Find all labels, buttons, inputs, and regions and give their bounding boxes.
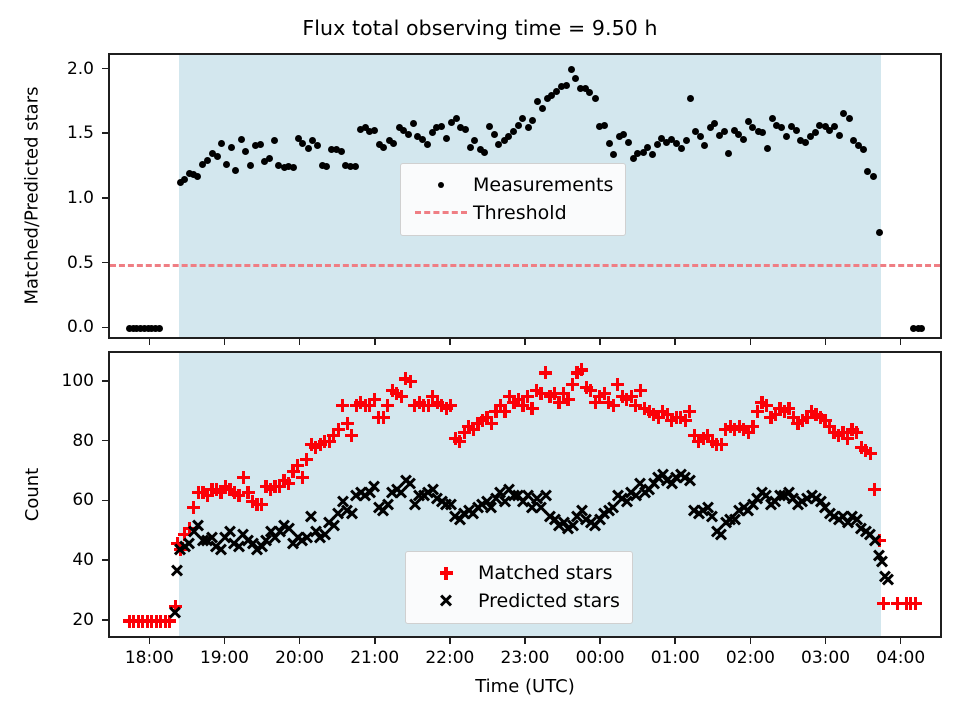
legend-item-matched-stars: Matched stars — [418, 559, 620, 587]
y-tick-mark — [102, 440, 108, 442]
data-point — [592, 95, 599, 102]
x-tick-mark — [900, 638, 902, 644]
data-point — [338, 148, 345, 155]
y-tick-mark — [102, 262, 108, 264]
data-point — [654, 141, 661, 148]
data-point — [606, 140, 613, 147]
x-tick-label: 04:00 — [876, 648, 925, 668]
data-point — [793, 127, 800, 134]
legend-item-threshold: Threshold — [413, 199, 613, 227]
data-point — [453, 115, 460, 122]
data-point — [238, 136, 245, 143]
data-point — [876, 229, 883, 236]
legend-item-predicted-stars: Predicted stars — [418, 587, 620, 615]
y-tick-mark — [102, 197, 108, 199]
data-point — [462, 126, 469, 133]
x-tick-label: 23:00 — [501, 648, 550, 668]
chart-title: Flux total observing time = 9.50 h — [0, 16, 960, 40]
data-point — [568, 66, 575, 73]
x-tick-mark — [674, 339, 676, 345]
x-axis-label: Time (UTC) — [108, 676, 942, 697]
x-tick-label: 22:00 — [425, 648, 474, 668]
data-point — [157, 613, 173, 629]
data-point — [126, 613, 142, 629]
data-point — [764, 145, 771, 152]
y-tick-mark — [102, 380, 108, 382]
data-point — [162, 613, 178, 629]
data-point — [130, 613, 146, 629]
x-tick-mark — [224, 638, 226, 644]
data-point — [687, 95, 694, 102]
data-point — [903, 595, 919, 611]
x-tick-mark — [149, 638, 151, 644]
x-tick-mark — [299, 339, 301, 345]
data-point — [290, 164, 297, 171]
data-point — [443, 135, 450, 142]
data-point — [880, 571, 896, 587]
y-tick-label: 0.0 — [0, 317, 94, 337]
x-tick-mark — [750, 638, 752, 644]
data-point — [228, 144, 235, 151]
x-tick-mark — [374, 638, 376, 644]
x-tick-mark — [524, 339, 526, 345]
y-tick-label: 0.5 — [0, 253, 94, 273]
data-point — [257, 141, 264, 148]
figure-root: Flux total observing time = 9.50 h Match… — [0, 0, 960, 720]
data-point — [242, 148, 249, 155]
data-point — [405, 131, 412, 138]
legend-label-threshold: Threshold — [469, 202, 567, 224]
data-point — [467, 144, 474, 151]
y-tick-label: 80 — [0, 431, 94, 451]
data-point — [625, 139, 632, 146]
y-tick-label: 100 — [0, 371, 94, 391]
top-panel-legend: Measurements Threshold — [400, 163, 626, 236]
data-point — [683, 137, 690, 144]
legend-label-measurements: Measurements — [469, 174, 613, 196]
x-tick-label: 18:00 — [125, 648, 174, 668]
data-point — [390, 140, 397, 147]
dot-marker-icon — [413, 172, 469, 198]
x-tick-label: 03:00 — [801, 648, 850, 668]
bottom-panel-legend: Matched stars Predicted stars — [405, 551, 633, 624]
data-point — [144, 613, 160, 629]
y-tick-label: 2.0 — [0, 59, 94, 79]
x-tick-label: 01:00 — [651, 648, 700, 668]
data-point — [481, 149, 488, 156]
x-tick-mark — [750, 339, 752, 345]
x-tick-label: 21:00 — [350, 648, 399, 668]
data-point — [153, 613, 169, 629]
data-point — [156, 325, 163, 332]
data-point — [846, 115, 853, 122]
x-tick-mark — [374, 339, 376, 345]
data-point — [247, 162, 254, 169]
x-tick-mark — [900, 339, 902, 345]
data-point — [907, 595, 923, 611]
data-point — [121, 613, 137, 629]
data-point — [223, 161, 230, 168]
legend-label-predicted-stars: Predicted stars — [474, 590, 620, 612]
data-point — [644, 144, 651, 151]
x-tick-mark — [599, 638, 601, 644]
black-x-marker-icon — [418, 588, 474, 614]
dashed-line-icon — [413, 200, 469, 226]
y-tick-mark — [102, 500, 108, 502]
data-point — [491, 131, 498, 138]
data-point — [563, 82, 570, 89]
data-point — [529, 117, 536, 124]
data-point — [510, 128, 517, 135]
x-tick-label: 00:00 — [576, 648, 625, 668]
y-tick-label: 20 — [0, 610, 94, 630]
data-point — [148, 613, 164, 629]
y-tick-mark — [102, 619, 108, 621]
y-tick-label: 40 — [0, 550, 94, 570]
data-point — [539, 105, 546, 112]
data-point — [889, 595, 905, 611]
data-point — [525, 124, 532, 131]
y-tick-mark — [102, 132, 108, 134]
threshold-line — [110, 264, 940, 267]
x-tick-mark — [299, 638, 301, 644]
data-point — [135, 613, 151, 629]
legend-label-matched-stars: Matched stars — [474, 562, 612, 584]
data-point — [898, 595, 914, 611]
data-point — [836, 132, 843, 139]
x-tick-mark — [524, 638, 526, 644]
data-point — [515, 122, 522, 129]
data-point — [740, 136, 747, 143]
data-point — [218, 140, 225, 147]
data-point — [214, 153, 221, 160]
red-plus-marker-icon — [418, 560, 474, 586]
x-tick-label: 02:00 — [726, 648, 775, 668]
x-tick-mark — [149, 339, 151, 345]
x-tick-mark — [599, 339, 601, 345]
data-point — [139, 613, 155, 629]
x-tick-label: 19:00 — [200, 648, 249, 668]
x-tick-mark — [449, 339, 451, 345]
x-tick-mark — [825, 638, 827, 644]
legend-item-measurements: Measurements — [413, 171, 613, 199]
x-tick-mark — [224, 339, 226, 345]
data-point — [352, 163, 359, 170]
y-tick-label: 60 — [0, 490, 94, 510]
data-point — [314, 142, 321, 149]
data-point — [620, 131, 627, 138]
y-tick-label: 1.5 — [0, 123, 94, 143]
y-tick-mark — [102, 68, 108, 70]
x-tick-label: 20:00 — [275, 648, 324, 668]
data-point — [678, 145, 685, 152]
data-point — [271, 137, 278, 144]
x-tick-mark — [674, 638, 676, 644]
y-tick-label: 1.0 — [0, 188, 94, 208]
x-tick-mark — [825, 339, 827, 345]
data-point — [918, 325, 925, 332]
y-tick-mark — [102, 559, 108, 561]
data-point — [204, 157, 211, 164]
data-point — [721, 128, 728, 135]
data-point — [305, 145, 312, 152]
x-tick-mark — [449, 638, 451, 644]
y-tick-mark — [102, 327, 108, 329]
